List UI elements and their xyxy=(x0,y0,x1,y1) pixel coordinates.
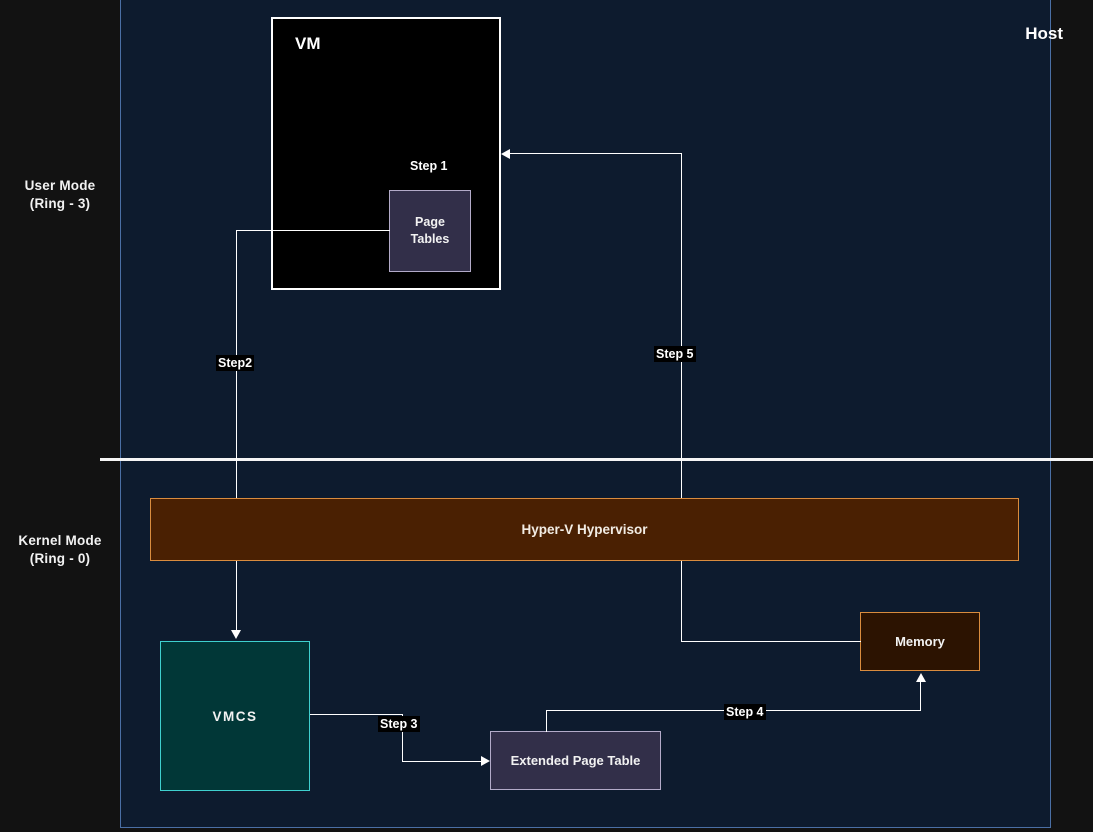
extended-page-table-label: Extended Page Table xyxy=(511,753,641,768)
step2-arrowhead xyxy=(231,630,241,639)
step3-arrowhead xyxy=(481,756,490,766)
user-mode-label: User Mode (Ring - 3) xyxy=(0,177,120,213)
kernel-mode-label-line2: (Ring - 0) xyxy=(0,550,120,568)
step5-connector-horizontal-lower xyxy=(681,641,861,642)
page-tables-box: Page Tables xyxy=(389,190,471,272)
step1-label: Step 1 xyxy=(408,158,450,174)
user-mode-label-line2: (Ring - 3) xyxy=(0,195,120,213)
page-tables-label: Page Tables xyxy=(411,214,450,248)
memory-label: Memory xyxy=(895,634,945,649)
step4-connector-vertical-right xyxy=(920,682,921,711)
step5-connector-horizontal-upper xyxy=(510,153,682,154)
vm-title: VM xyxy=(295,34,321,54)
step4-connector-vertical-left xyxy=(546,710,547,732)
mode-divider xyxy=(100,458,1093,461)
step4-arrowhead xyxy=(916,673,926,682)
kernel-mode-label: Kernel Mode (Ring - 0) xyxy=(0,532,120,568)
extended-page-table-box: Extended Page Table xyxy=(490,731,661,790)
step5-connector-vertical xyxy=(681,153,682,642)
step3-label: Step 3 xyxy=(378,716,420,732)
step4-label: Step 4 xyxy=(724,704,766,720)
diagram-canvas: User Mode (Ring - 3) Kernel Mode (Ring -… xyxy=(0,0,1093,832)
step5-label: Step 5 xyxy=(654,346,696,362)
host-title: Host xyxy=(1025,24,1063,44)
vmcs-label: VMCS xyxy=(212,709,257,724)
kernel-mode-label-line1: Kernel Mode xyxy=(0,532,120,550)
memory-box: Memory xyxy=(860,612,980,671)
step2-label: Step2 xyxy=(216,355,254,371)
step5-arrowhead xyxy=(501,149,510,159)
page-tables-label-line1: Page xyxy=(415,215,445,229)
hypervisor-label: Hyper-V Hypervisor xyxy=(521,522,647,537)
hypervisor-box: Hyper-V Hypervisor xyxy=(150,498,1019,561)
step3-connector-horizontal-lower xyxy=(402,761,482,762)
step2-connector-horizontal xyxy=(236,230,390,231)
vmcs-box: VMCS xyxy=(160,641,310,791)
step3-connector-horizontal-upper xyxy=(310,714,403,715)
page-tables-label-line2: Tables xyxy=(411,232,450,246)
user-mode-label-line1: User Mode xyxy=(0,177,120,195)
step2-connector-vertical xyxy=(236,230,237,634)
